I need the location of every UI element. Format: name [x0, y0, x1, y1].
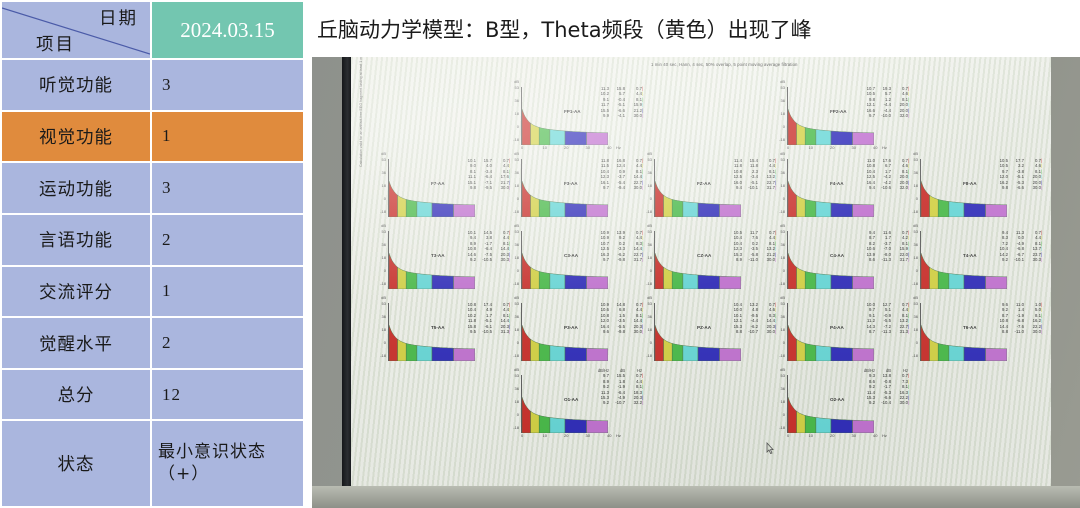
y-tick: -18: [912, 281, 918, 286]
value-row: 9.2-10.530.3|: [461, 257, 512, 262]
channel-value-table: 11.315.80.7|10.25.74.4|9.1-0.48.1|11.7-5…: [594, 86, 645, 118]
y-unit: dB: [780, 79, 785, 84]
table-row[interactable]: 交流评分1: [2, 267, 303, 317]
x-axis: 010203040Hz: [785, 145, 881, 154]
x-axis: 010203040Hz: [785, 433, 881, 442]
y-unit: dB: [780, 367, 785, 372]
channel-label: C4-AA: [830, 253, 844, 258]
y-tick: 53: [515, 157, 519, 162]
channel-value-table: 10.012.70.7|9.75.14.4|9.1-0.98.1|11.2-5.…: [860, 302, 911, 334]
channel-value-table: dB/HzdBHz9.313.80.7|8.6-0.87.3|9.2-1.78.…: [860, 368, 911, 406]
y-axis: 5336180-18dB: [905, 303, 919, 361]
y-unit: dB: [647, 151, 652, 156]
value-row: 8.6-11.331.7|: [860, 257, 911, 262]
x-tick: 30: [586, 145, 590, 150]
y-unit: dB: [381, 223, 386, 228]
y-unit: dB: [514, 151, 519, 156]
x-tick: 20: [830, 433, 834, 438]
value-row: 9.2-10.130.3|: [993, 257, 1044, 262]
y-tick: 53: [914, 301, 918, 306]
slide-root: 日期项目2024.03.15听觉功能3视觉功能1运动功能3言语功能2交流评分1觉…: [0, 0, 1080, 508]
y-tick: 53: [515, 85, 519, 90]
y-tick: 0: [517, 124, 519, 129]
row-value: 1: [152, 112, 303, 162]
y-axis: 5336180-18dB: [772, 159, 786, 217]
x-axis-unit: Hz: [882, 433, 887, 438]
y-tick: 0: [916, 340, 918, 345]
y-axis: 5336180-18dB: [639, 303, 653, 361]
y-axis: 5336180-18dB: [506, 231, 520, 289]
x-tick: 40: [873, 433, 877, 438]
y-tick: -18: [779, 281, 785, 286]
table-row[interactable]: 视觉功能1: [2, 112, 303, 162]
y-tick: 18: [648, 327, 652, 332]
x-axis: 010203040Hz: [519, 145, 615, 154]
channel-value-table: 9.611.01.0|9.21.45.0|8.7-1.98.1|10.8-6.8…: [993, 302, 1044, 334]
row-value: 3: [152, 163, 303, 213]
row-value: 最小意识状态（+）: [152, 421, 303, 506]
table-row[interactable]: 运动功能3: [2, 163, 303, 213]
value-row: 9.8-9.530.0|: [461, 185, 512, 190]
y-tick: 0: [384, 340, 386, 345]
y-tick: 0: [916, 196, 918, 201]
y-tick: 18: [382, 183, 386, 188]
row-label: 状态: [2, 421, 150, 506]
y-tick: 18: [515, 183, 519, 188]
channel-value-table: 10.114.50.7|9.43.84.4|8.9-1.78.1|10.8-6.…: [461, 230, 512, 262]
table-row-status[interactable]: 状态最小意识状态（+）: [2, 421, 303, 506]
channel-label: P4-AA: [830, 325, 844, 330]
y-tick: 18: [781, 183, 785, 188]
y-tick: 0: [517, 340, 519, 345]
y-tick: 36: [515, 314, 519, 319]
channel-label: F3-AA: [564, 181, 578, 186]
table-row[interactable]: 总分12: [2, 370, 303, 420]
y-tick: 18: [781, 327, 785, 332]
table-row[interactable]: 觉醒水平2: [2, 318, 303, 368]
y-tick: 36: [781, 314, 785, 319]
y-tick: 53: [648, 229, 652, 234]
y-unit: dB: [647, 223, 652, 228]
x-tick: 10: [809, 145, 813, 150]
y-tick: 18: [515, 327, 519, 332]
value-row: 9.6-9.830.0|: [594, 329, 645, 334]
y-tick: 18: [648, 183, 652, 188]
table-row[interactable]: 言语功能2: [2, 215, 303, 265]
value-row: 9.4-10.632.0|: [860, 185, 911, 190]
y-tick: 0: [517, 268, 519, 273]
y-unit: dB: [514, 295, 519, 300]
y-unit: dB: [913, 151, 918, 156]
y-tick: 36: [914, 170, 918, 175]
status-line-1: 最小意识状态: [158, 442, 297, 463]
y-unit: dB: [514, 223, 519, 228]
y-tick: 53: [515, 373, 519, 378]
y-tick: 18: [382, 255, 386, 260]
channel-value-table: 10.913.90.7|10.99.24.4|10.70.28.3|12.5-3…: [594, 230, 645, 262]
y-tick: 36: [382, 170, 386, 175]
row-label: 视觉功能: [2, 112, 150, 162]
y-unit: dB: [913, 223, 918, 228]
channel-label: FZ-AA: [697, 181, 711, 186]
value-row: 9.7-10.032.0|: [860, 113, 911, 118]
channel-label: T4-AA: [963, 253, 977, 258]
y-tick: 0: [650, 340, 652, 345]
y-unit: dB: [780, 151, 785, 156]
y-tick: 18: [781, 399, 785, 404]
channel-value-table: 10.719.30.7|10.55.74.6|9.81.28.1|12.1-4.…: [860, 86, 911, 118]
x-tick: 30: [852, 145, 856, 150]
channel-value-table: 10.517.70.7|10.53.24.6|9.7-3.88.1|12.0-5…: [993, 158, 1044, 190]
y-tick: 18: [515, 111, 519, 116]
value-row: 9.2-10.430.0|: [860, 400, 911, 405]
y-tick: -18: [513, 209, 519, 214]
y-axis: 5336180-18dB: [772, 231, 786, 289]
row-value: 2: [152, 318, 303, 368]
y-tick: 0: [384, 196, 386, 201]
y-tick: -18: [513, 353, 519, 358]
y-tick: -18: [513, 425, 519, 430]
y-tick: 18: [781, 111, 785, 116]
x-tick: 10: [809, 433, 813, 438]
x-axis-unit: Hz: [616, 145, 621, 150]
value-row: 9.7-9.831.7|: [594, 257, 645, 262]
channel-value-table: 10.817.40.7|10.44.94.4|10.21.78.1|11.8-5…: [461, 302, 512, 334]
x-tick: 40: [607, 433, 611, 438]
value-row: 9.8-6.630.0|: [993, 185, 1044, 190]
y-tick: 36: [781, 170, 785, 175]
y-unit: dB: [647, 295, 652, 300]
y-unit: dB: [381, 295, 386, 300]
x-tick: 0: [787, 145, 789, 150]
value-row: 8.8-11.030.0|: [993, 329, 1044, 334]
y-tick: 18: [914, 255, 918, 260]
y-tick: 53: [515, 301, 519, 306]
y-tick: 0: [783, 412, 785, 417]
header-corner-cell: 日期项目: [2, 2, 150, 58]
channel-label: FP2-AA: [830, 109, 847, 114]
y-axis: 5336180-18dB: [506, 375, 520, 433]
channel-label: T3-AA: [431, 253, 445, 258]
row-label: 言语功能: [2, 215, 150, 265]
x-tick: 10: [543, 433, 547, 438]
y-unit: dB: [780, 295, 785, 300]
y-tick: 0: [517, 412, 519, 417]
page-title: 丘脑动力学模型：B型，Theta频段（黄色）出现了峰: [317, 14, 812, 44]
channel-value-table: 11.017.60.7|10.86.74.6|10.41.78.1|12.5-4…: [860, 158, 911, 190]
y-tick: -18: [912, 353, 918, 358]
y-axis: 5336180-18dB: [772, 87, 786, 145]
y-tick: -18: [380, 281, 386, 286]
y-unit: dB: [913, 295, 918, 300]
y-tick: 53: [914, 229, 918, 234]
y-unit: dB: [514, 367, 519, 372]
y-tick: -18: [779, 137, 785, 142]
value-row: 9.4-10.131.7|: [727, 185, 778, 190]
channel-value-table: 9.411.30.7|8.30.04.4|7.2-4.98.1|10.4-6.8…: [993, 230, 1044, 262]
value-row: 8.9-11.030.0|: [727, 257, 778, 262]
y-tick: 18: [781, 255, 785, 260]
y-tick: 18: [914, 183, 918, 188]
row-label: 交流评分: [2, 267, 150, 317]
y-tick: 53: [781, 229, 785, 234]
assessment-table: 日期项目2024.03.15听觉功能3视觉功能1运动功能3言语功能2交流评分1觉…: [0, 0, 305, 508]
channel-label: F4-AA: [830, 181, 844, 186]
y-tick: 36: [781, 242, 785, 247]
chart-y-axis-label: Calculation valid for an artifact-free E…: [359, 57, 363, 167]
y-axis: 5336180-18dB: [506, 303, 520, 361]
value-row: 8.8-10.730.0|: [727, 329, 778, 334]
y-axis: 5336180-18dB: [905, 159, 919, 217]
date-header-cell: 2024.03.15: [152, 2, 303, 58]
x-tick: 0: [787, 433, 789, 438]
channel-value-table: 11.816.80.7|11.512.44.4|10.40.98.1|12.3-…: [594, 158, 645, 190]
y-tick: -18: [646, 209, 652, 214]
table-header-row: 日期项目2024.03.15: [2, 2, 303, 58]
y-tick: 53: [382, 157, 386, 162]
y-tick: -18: [380, 353, 386, 358]
y-tick: 0: [517, 196, 519, 201]
x-tick: 30: [586, 433, 590, 438]
row-value: 2: [152, 215, 303, 265]
channel-label: T5-AA: [431, 325, 445, 330]
desk-surface: [312, 486, 1080, 508]
y-tick: 53: [382, 229, 386, 234]
y-tick: 53: [648, 157, 652, 162]
eeg-screen-photo: 1 min 40 sec, Hann, 4 sec, 50% overlap, …: [312, 57, 1080, 508]
value-row: 9.9-4.130.0|: [594, 113, 645, 118]
row-value: 1: [152, 267, 303, 317]
y-axis: 5336180-18dB: [772, 303, 786, 361]
y-unit: dB: [780, 223, 785, 228]
slide-content-panel: 丘脑动力学模型：B型，Theta频段（黄色）出现了峰 1 min 40 sec,…: [305, 0, 1080, 508]
y-unit: dB: [514, 79, 519, 84]
y-tick: 18: [914, 327, 918, 332]
channel-value-table: 10.413.20.7|10.04.84.6|10.1-9.58.3|12.1-…: [727, 302, 778, 334]
y-tick: 53: [515, 229, 519, 234]
row-label: 觉醒水平: [2, 318, 150, 368]
y-tick: 36: [648, 242, 652, 247]
x-axis: 010203040Hz: [519, 433, 615, 442]
y-tick: 18: [515, 255, 519, 260]
y-tick: 36: [914, 314, 918, 319]
y-axis: 5336180-18dB: [905, 231, 919, 289]
x-tick: 40: [607, 145, 611, 150]
y-tick: 36: [781, 98, 785, 103]
channel-label: O1-AA: [564, 397, 578, 402]
y-tick: -18: [380, 209, 386, 214]
y-tick: 53: [382, 301, 386, 306]
row-value: 3: [152, 60, 303, 110]
channel-value-table: 10.511.70.7|10.47.64.4|10.40.28.1|12.3-3…: [727, 230, 778, 262]
y-tick: -18: [513, 137, 519, 142]
status-line-2: （+）: [158, 464, 297, 485]
channel-value-table: 10.914.80.7|10.66.84.4|10.81.58.1|12.0-3…: [594, 302, 645, 334]
y-tick: 0: [783, 268, 785, 273]
y-tick: 36: [515, 98, 519, 103]
y-tick: 0: [783, 340, 785, 345]
corner-label-item: 项目: [36, 31, 75, 56]
channel-label: PZ-AA: [697, 325, 711, 330]
channel-value-table: 10.115.70.7|9.04.04.4|8.1-3.48.1|11.1-6.…: [461, 158, 512, 190]
x-axis-unit: Hz: [616, 433, 621, 438]
y-axis: 5336180-18dB: [639, 231, 653, 289]
value-row: 9.2-10.732.2|: [594, 400, 645, 405]
x-tick: 20: [564, 433, 568, 438]
monitor-bezel: [342, 57, 351, 508]
y-axis: 5336180-18dB: [373, 303, 387, 361]
y-tick: 53: [781, 157, 785, 162]
y-tick: 0: [650, 196, 652, 201]
y-tick: 0: [783, 196, 785, 201]
row-label: 总分: [2, 370, 150, 420]
assessment-table-panel: 日期项目2024.03.15听觉功能3视觉功能1运动功能3言语功能2交流评分1觉…: [0, 0, 305, 508]
y-axis: 5336180-18dB: [772, 375, 786, 433]
y-axis: 5336180-18dB: [373, 231, 387, 289]
value-row: 8.7-11.331.3|: [860, 329, 911, 334]
y-tick: 53: [914, 157, 918, 162]
y-tick: 53: [648, 301, 652, 306]
y-tick: -18: [912, 209, 918, 214]
channel-value-table: 9.411.60.7|8.71.74.2|8.2-3.78.1|10.6-7.0…: [860, 230, 911, 262]
x-tick: 0: [521, 145, 523, 150]
channel-label: CZ-AA: [697, 253, 711, 258]
chart-header-note: 1 min 40 sec, Hann, 4 sec, 50% overlap, …: [651, 62, 798, 67]
channel-label: C3-AA: [564, 253, 578, 258]
y-tick: 18: [515, 399, 519, 404]
y-tick: -18: [779, 353, 785, 358]
x-tick: 0: [521, 433, 523, 438]
y-tick: -18: [646, 281, 652, 286]
channel-label: T6-AA: [963, 325, 977, 330]
row-label: 听觉功能: [2, 60, 150, 110]
x-tick: 10: [543, 145, 547, 150]
row-value: 12: [152, 370, 303, 420]
y-tick: -18: [779, 209, 785, 214]
mouse-cursor-icon: [765, 442, 775, 454]
y-tick: 36: [914, 242, 918, 247]
channel-label: F7-AA: [431, 181, 445, 186]
y-tick: 36: [515, 242, 519, 247]
y-tick: -18: [779, 425, 785, 430]
row-label: 运动功能: [2, 163, 150, 213]
eeg-software-screen: 1 min 40 sec, Hann, 4 sec, 50% overlap, …: [351, 57, 1051, 486]
channel-value-table: 11.415.40.7|11.811.84.4|10.82.38.1|12.5-…: [727, 158, 778, 190]
y-tick: 36: [648, 314, 652, 319]
y-tick: 36: [781, 386, 785, 391]
y-tick: 36: [515, 386, 519, 391]
y-tick: 18: [648, 255, 652, 260]
y-tick: 0: [650, 268, 652, 273]
channel-label: F8-AA: [963, 181, 977, 186]
y-tick: 36: [515, 170, 519, 175]
channel-label: O2-AA: [830, 397, 844, 402]
y-tick: 53: [781, 85, 785, 90]
y-tick: 36: [382, 314, 386, 319]
x-tick: 20: [830, 145, 834, 150]
y-tick: 0: [384, 268, 386, 273]
table-row[interactable]: 听觉功能3: [2, 60, 303, 110]
x-tick: 30: [852, 433, 856, 438]
y-tick: -18: [513, 281, 519, 286]
value-row: 9.5-10.531.3|: [461, 329, 512, 334]
channel-label: FP1-AA: [564, 109, 581, 114]
x-tick: 40: [873, 145, 877, 150]
channel-label: P3-AA: [564, 325, 578, 330]
x-tick: 20: [564, 145, 568, 150]
y-tick: -18: [646, 353, 652, 358]
y-tick: 36: [648, 170, 652, 175]
value-row: 9.7-9.430.0|: [594, 185, 645, 190]
y-tick: 18: [382, 327, 386, 332]
y-tick: 53: [781, 301, 785, 306]
y-axis: 5336180-18dB: [506, 87, 520, 145]
y-axis: 5336180-18dB: [639, 159, 653, 217]
channel-value-table: dB/HzdBHz9.715.50.7|8.91.84.4|9.2-1.98.1…: [594, 368, 645, 406]
y-axis: 5336180-18dB: [506, 159, 520, 217]
y-unit: dB: [381, 151, 386, 156]
y-tick: 53: [781, 373, 785, 378]
y-tick: 36: [382, 242, 386, 247]
y-tick: 0: [916, 268, 918, 273]
x-axis-unit: Hz: [882, 145, 887, 150]
y-tick: 0: [783, 124, 785, 129]
corner-label-date: 日期: [99, 5, 138, 30]
y-axis: 5336180-18dB: [373, 159, 387, 217]
